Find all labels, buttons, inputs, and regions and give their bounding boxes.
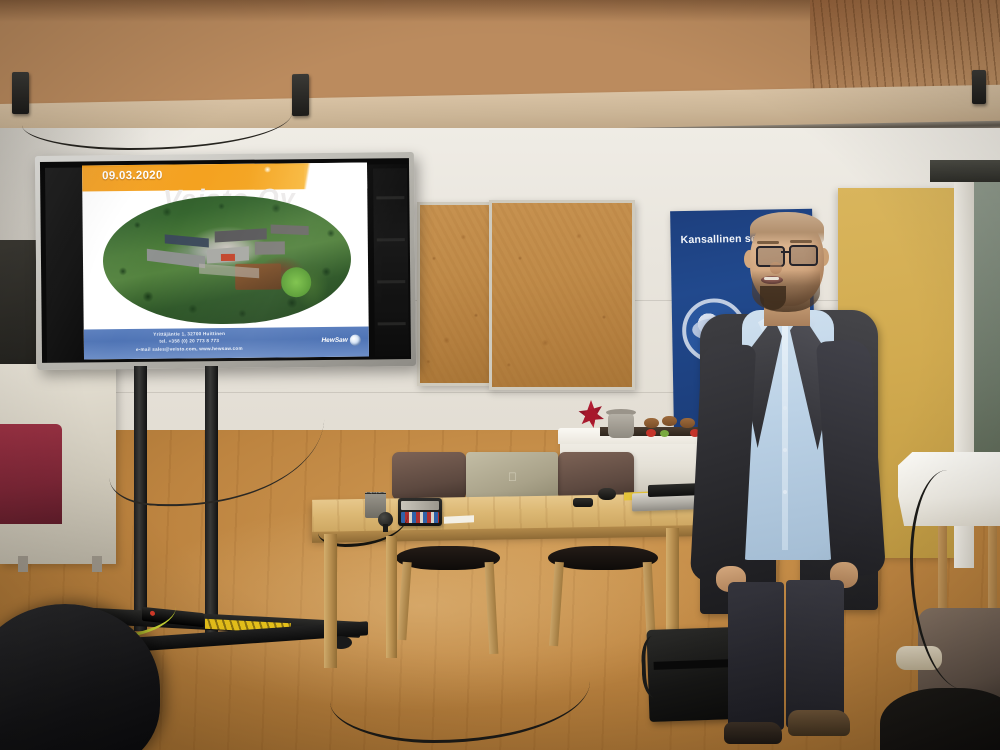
eyebrow-left — [757, 241, 779, 244]
screen-reflection — [373, 168, 409, 356]
eyeglasses-lens-right — [789, 245, 818, 266]
chair-back-left — [392, 452, 466, 500]
shoe-right — [788, 710, 850, 736]
bag-strap — [641, 635, 673, 698]
shirt-button — [783, 448, 787, 452]
goatee — [760, 286, 786, 310]
tv-screen: 09.03.2020 Veisto Oy — [40, 158, 411, 363]
chair-seat-right — [548, 546, 658, 570]
grey-pot — [608, 414, 634, 438]
presenter — [694, 214, 880, 750]
foreground-object — [880, 688, 1000, 750]
shoe-left — [724, 722, 782, 744]
teeth — [764, 277, 779, 280]
apple-logo-icon:  — [507, 471, 518, 484]
shirt-button — [783, 364, 787, 368]
vegetable-tomato — [646, 429, 656, 437]
shirt-button — [783, 490, 787, 494]
red-cloth — [0, 424, 62, 524]
cork-board-right — [489, 200, 635, 390]
cabinet-foot — [92, 556, 102, 572]
cork-board-left — [417, 202, 493, 386]
remote-control — [573, 498, 593, 507]
bread-roll — [662, 416, 677, 426]
floor-cable — [150, 690, 350, 750]
eyebrow-right — [790, 240, 812, 243]
computer-mouse — [598, 488, 616, 500]
left-dark-cabinet — [0, 240, 36, 370]
hewsaw-logo-text: HewSaw — [321, 337, 347, 344]
eyeglasses-bridge — [781, 251, 790, 253]
slide-aerial-photo — [102, 195, 351, 326]
nose — [770, 262, 782, 274]
ceiling-speaker-right — [972, 70, 986, 104]
hewsaw-logo: HewSaw — [321, 335, 360, 346]
cabinet-foot — [18, 556, 28, 572]
slide-footer-band: Yrittäjäntie 1, 32700 Huittinen tel. +35… — [84, 327, 369, 360]
flat-screen-tv: 09.03.2020 Veisto Oy — [35, 152, 416, 370]
photo-scene: Kansallinen senioriliitto — [0, 0, 1000, 750]
ceiling-speaker-center — [292, 74, 309, 116]
shirt-button — [783, 406, 787, 410]
vegetable-cucumber — [660, 430, 669, 437]
door-header — [930, 160, 1000, 182]
hewsaw-logo-mark-icon — [350, 335, 361, 346]
slide-footer-email: e-mail sales@veisto.com, www.hewsaw.com — [84, 344, 295, 354]
screen-glare — [264, 167, 271, 173]
slide-footer-text: Yrittäjäntie 1, 32700 Huittinen tel. +35… — [84, 329, 295, 353]
trouser-leg-right — [786, 580, 844, 728]
bread-roll — [644, 418, 659, 428]
shirt-placket — [782, 322, 788, 550]
slide-date: 09.03.2020 — [102, 170, 163, 183]
bread-roll — [680, 418, 695, 428]
trouser-leg-left — [728, 582, 784, 730]
chair-back-right — [558, 452, 634, 500]
presentation-slide: 09.03.2020 Veisto Oy — [82, 163, 369, 360]
